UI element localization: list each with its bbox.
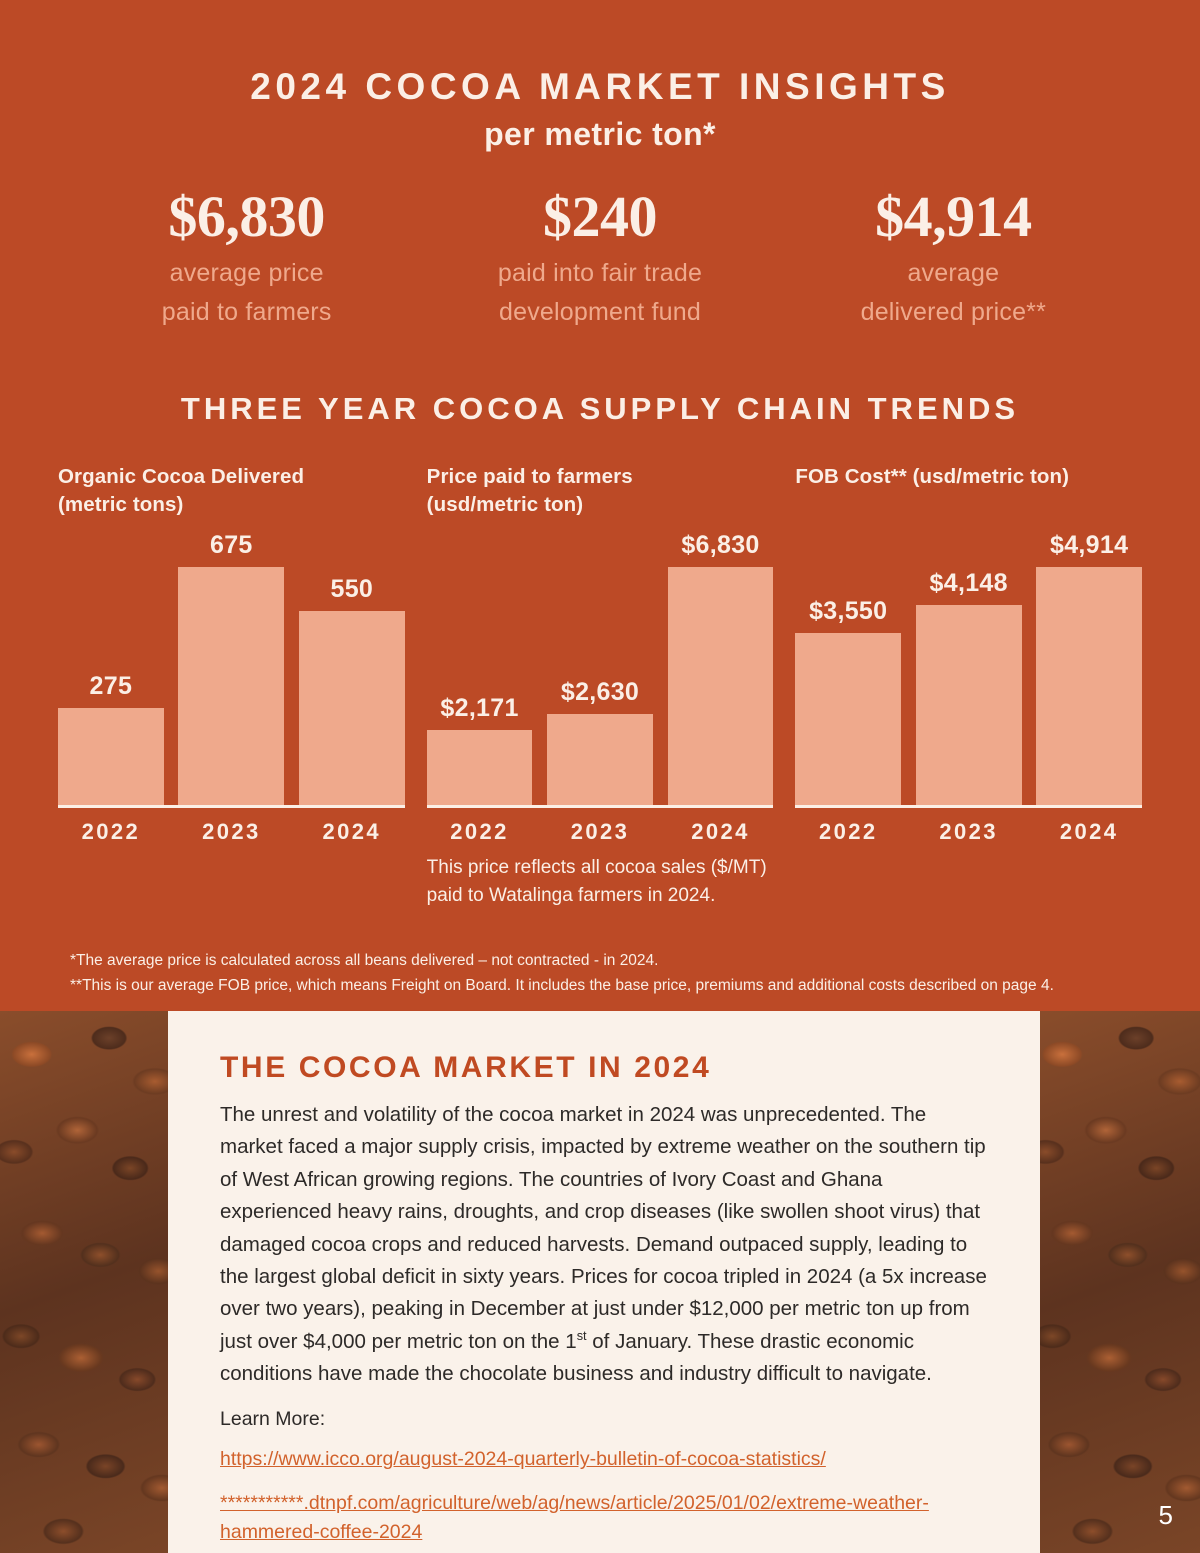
x-axis-label: 2023 [547,819,653,845]
article-card: THE COCOA MARKET IN 2024 The unrest and … [168,1011,1040,1553]
bar-group: 275 675 550 [58,527,405,805]
bar [299,611,405,805]
x-axis-labels: 2022 2023 2024 [58,819,405,845]
page-subtitle: per metric ton* [0,116,1200,153]
chart-price-paid-to-farmers: Price paid to farmers (usd/metric ton) $… [427,463,774,909]
bar-column: 675 [178,527,284,805]
stat-average-price-paid: $6,830 average price paid to farmers [70,187,423,331]
chart-title-line1: Price paid to farmers [427,463,774,491]
chart-plot-area: 275 675 550 [58,527,405,805]
chart-title-line2: (metric tons) [58,491,405,519]
stat-label-line1: average price [70,254,423,293]
stat-label: paid into fair trade development fund [423,254,776,332]
bar-value-label: 675 [210,531,253,560]
ordinal-suffix: st [577,1328,587,1343]
x-axis-label: 2024 [1036,819,1142,845]
x-axis-label: 2023 [178,819,284,845]
x-axis-labels: 2022 2023 2024 [427,819,774,845]
x-axis-label: 2024 [299,819,405,845]
bar-value-label: $4,148 [930,569,1008,598]
x-axis-line [795,805,1142,808]
section-title-trends: THREE YEAR COCOA SUPPLY CHAIN TRENDS [0,391,1200,427]
x-axis-line [58,805,405,808]
stat-fair-trade-fund: $240 paid into fair trade development fu… [423,187,776,331]
chart-plot-area: $2,171 $2,630 $6,830 [427,527,774,805]
footnote-single-asterisk: *The average price is calculated across … [70,948,1054,973]
stat-value: $4,914 [777,187,1130,248]
source-link-icco[interactable]: https://www.icco.org/august-2024-quarter… [220,1445,988,1474]
bar [668,567,774,805]
article-body-part1: The unrest and volatility of the cocoa m… [220,1103,987,1353]
chart-plot-area: $3,550 $4,148 $4,914 [795,527,1142,805]
source-link-dtnpf[interactable]: ***********.dtnpf.com/agriculture/web/ag… [220,1489,988,1548]
chart-note: This price reflects all cocoa sales ($/M… [427,854,774,909]
stat-average-delivered-price: $4,914 average delivered price** [777,187,1130,331]
chart-fob-cost: FOB Cost** (usd/metric ton) $3,550 $4,14… [795,463,1142,909]
bar-value-label: $2,171 [440,694,518,723]
bar-value-label: 275 [90,672,133,701]
bar [795,633,901,805]
bar-column: $4,914 [1036,527,1142,805]
stat-label-line2: paid to farmers [70,293,423,332]
bar-value-label: $4,914 [1050,531,1128,560]
stat-label-line1: paid into fair trade [423,254,776,293]
bar [1036,567,1142,805]
footnotes: *The average price is calculated across … [70,948,1054,998]
stat-value: $6,830 [70,187,423,248]
cocoa-beans-photo-right [1032,1011,1200,1553]
bar [547,714,653,806]
stat-label: average delivered price** [777,254,1130,332]
bar-value-label: 550 [330,575,373,604]
x-axis-line [427,805,774,808]
x-axis-label: 2022 [795,819,901,845]
chart-title: Organic Cocoa Delivered (metric tons) [58,463,405,519]
chart-organic-cocoa-delivered: Organic Cocoa Delivered (metric tons) 27… [58,463,405,909]
charts-row: Organic Cocoa Delivered (metric tons) 27… [0,463,1200,909]
bar-group: $2,171 $2,630 $6,830 [427,527,774,805]
article-body: The unrest and volatility of the cocoa m… [220,1099,988,1390]
stat-label-line2: delivered price** [777,293,1130,332]
bar [178,567,284,805]
x-axis-label: 2024 [668,819,774,845]
bottom-photo-band: THE COCOA MARKET IN 2024 The unrest and … [0,1011,1200,1553]
bar-column: $2,171 [427,527,533,805]
bar-group: $3,550 $4,148 $4,914 [795,527,1142,805]
cocoa-beans-photo-left [0,1011,176,1553]
x-axis-label: 2022 [58,819,164,845]
x-axis-label: 2022 [427,819,533,845]
page-number: 5 [1159,1500,1173,1531]
bar [58,708,164,805]
chart-title: FOB Cost** (usd/metric ton) [795,463,1142,519]
bar-column: $3,550 [795,527,901,805]
chart-title-line1: FOB Cost** (usd/metric ton) [795,463,1142,491]
stat-label: average price paid to farmers [70,254,423,332]
chart-title: Price paid to farmers (usd/metric ton) [427,463,774,519]
x-axis-labels: 2022 2023 2024 [795,819,1142,845]
bar-value-label: $6,830 [681,531,759,560]
article-title: THE COCOA MARKET IN 2024 [220,1051,988,1085]
x-axis-label: 2023 [916,819,1022,845]
chart-title-line1: Organic Cocoa Delivered [58,463,405,491]
bar-column: $2,630 [547,527,653,805]
bar-column: $6,830 [668,527,774,805]
bar-value-label: $3,550 [809,597,887,626]
stat-label-line1: average [777,254,1130,293]
bar-value-label: $2,630 [561,678,639,707]
bar-column: 550 [299,527,405,805]
key-stats-row: $6,830 average price paid to farmers $24… [0,187,1200,331]
bar-column: 275 [58,527,164,805]
page-title: 2024 COCOA MARKET INSIGHTS [0,66,1200,108]
learn-more-label: Learn More: [220,1408,988,1431]
bar-column: $4,148 [916,527,1022,805]
infographic-top-panel: 2024 COCOA MARKET INSIGHTS per metric to… [0,0,1200,1011]
chart-title-line2: (usd/metric ton) [427,491,774,519]
bar [916,605,1022,806]
stat-value: $240 [423,187,776,248]
footnote-double-asterisk: **This is our average FOB price, which m… [70,973,1054,998]
stat-label-line2: development fund [423,293,776,332]
bar [427,730,533,806]
